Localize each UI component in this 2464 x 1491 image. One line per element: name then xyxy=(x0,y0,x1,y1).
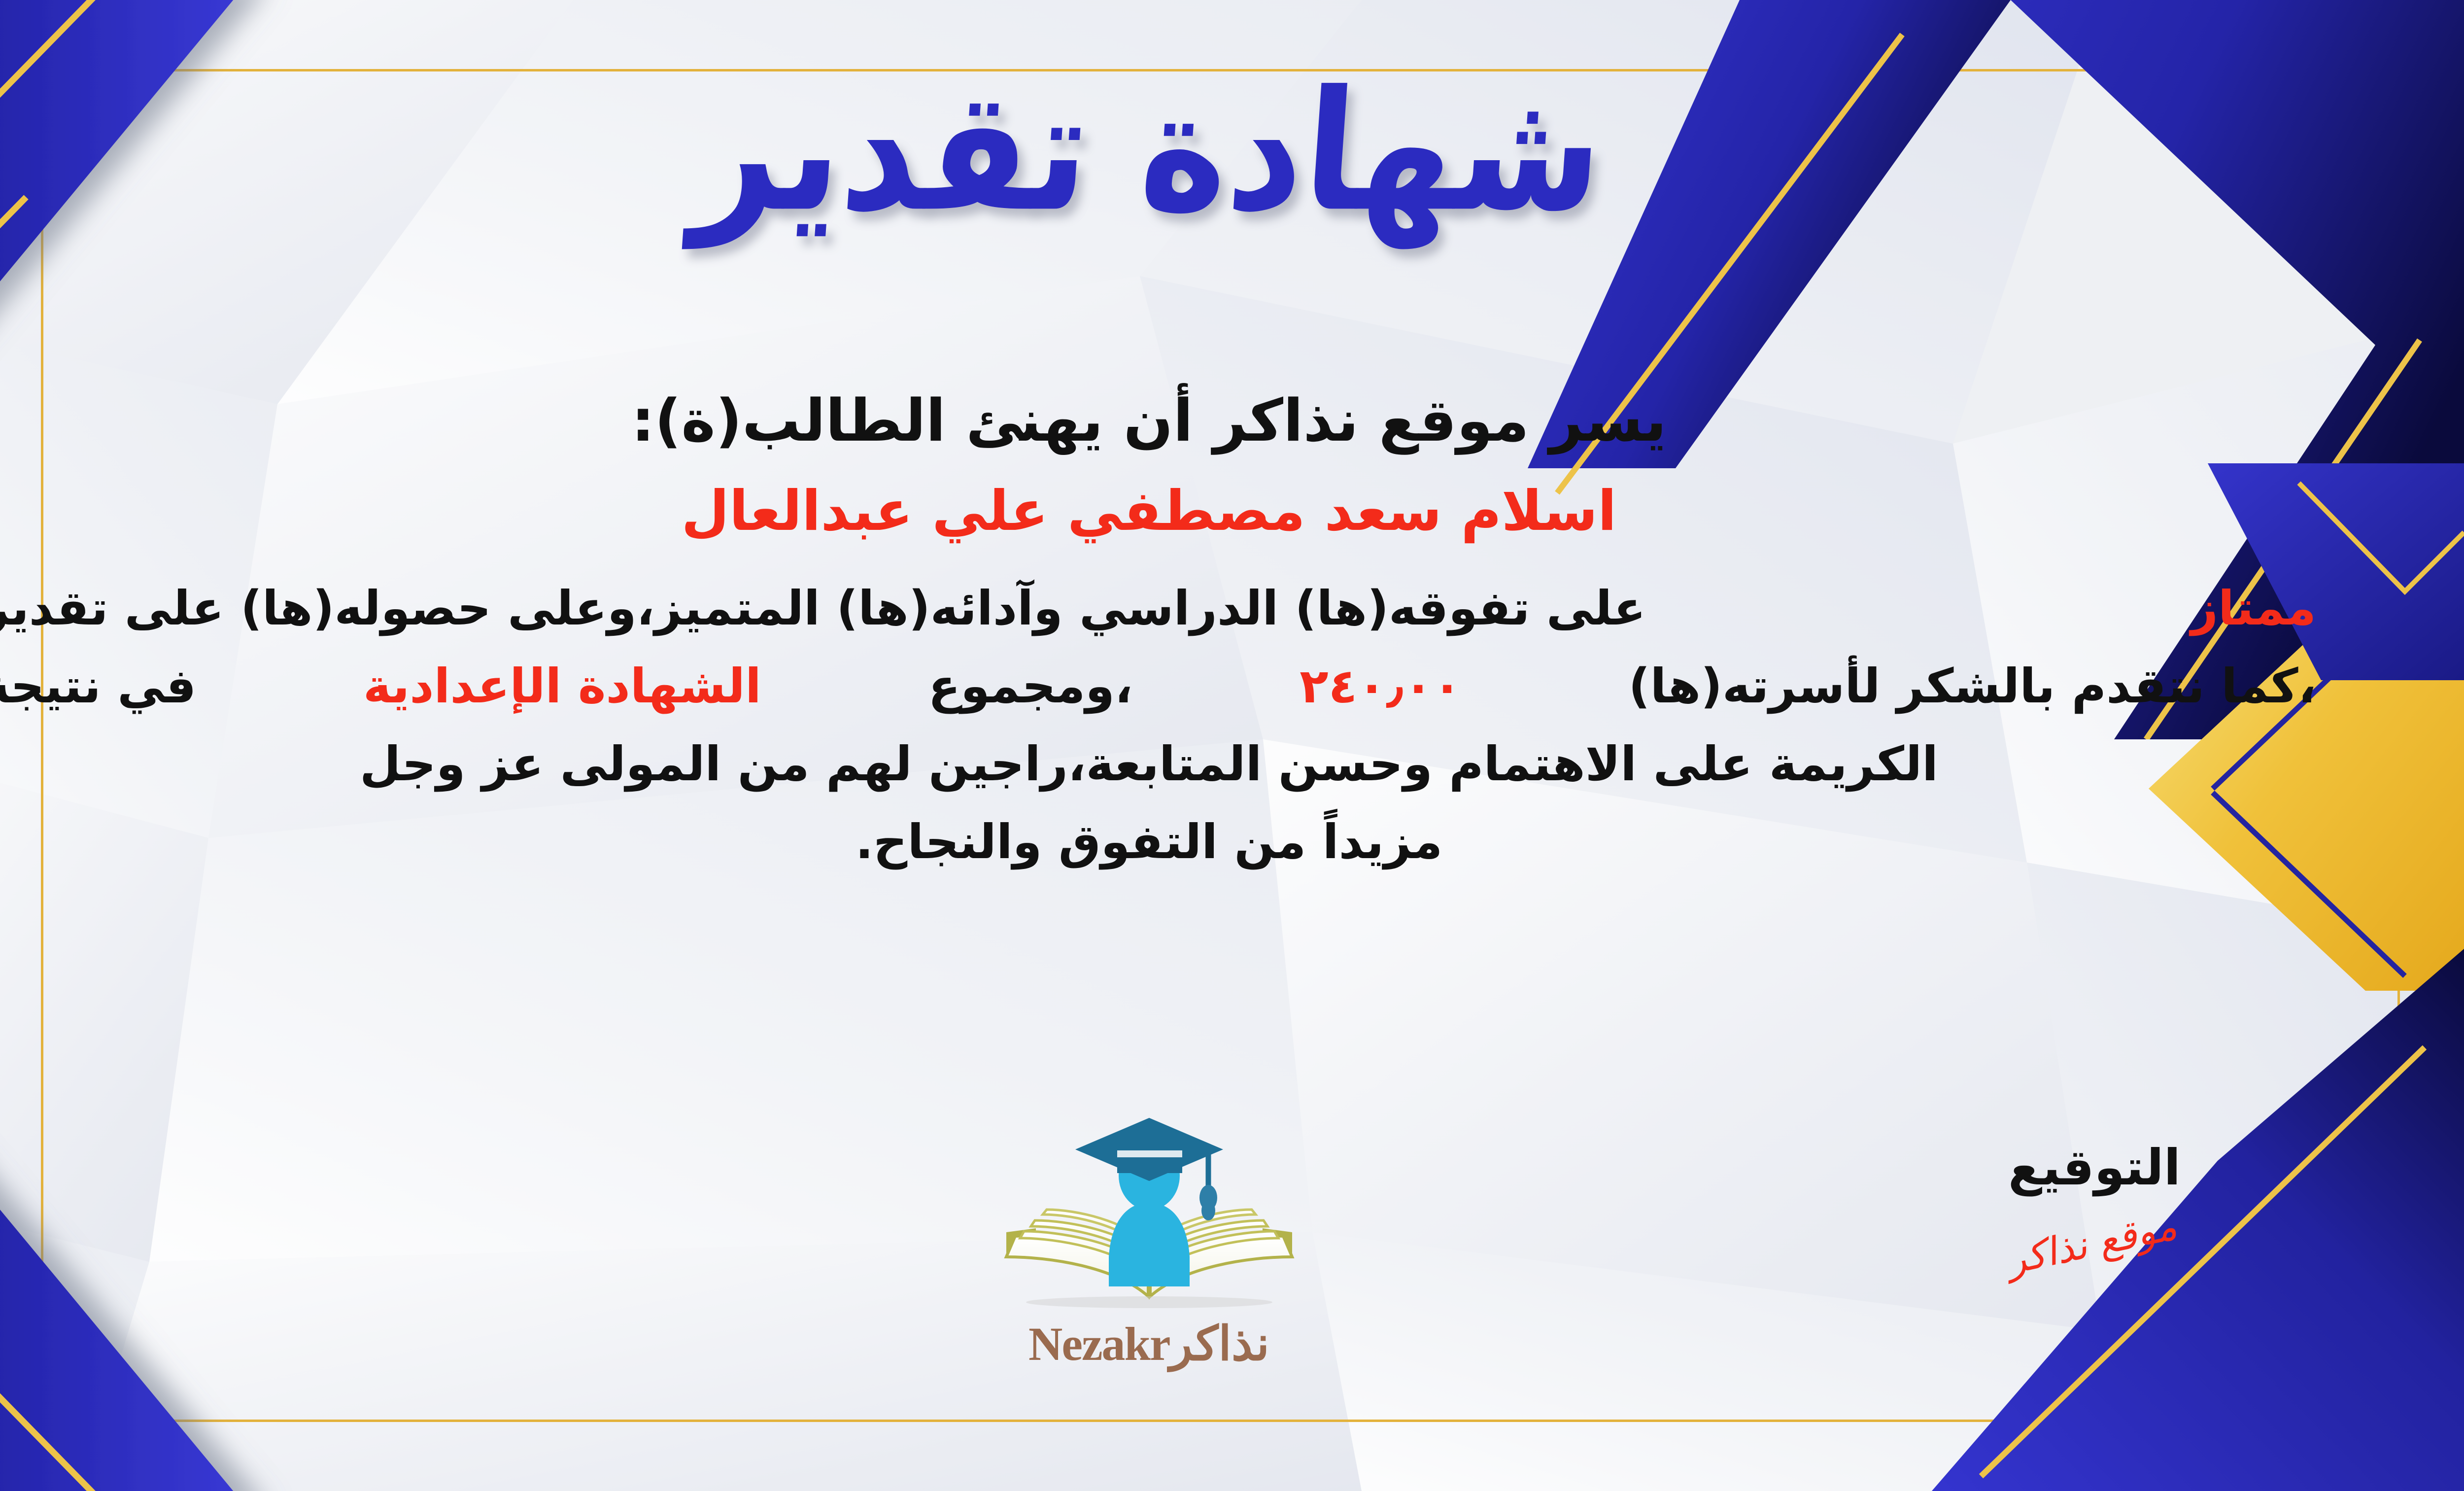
certificate-title: شهادة تقدير xyxy=(689,65,1609,239)
certificate-paragraph: ممتاز على تفوقه(ها) الدراسي وآدائه(ها) ا… xyxy=(0,573,2316,877)
paragraph-line-4: مزيداً من التفوق والنجاح. xyxy=(0,806,2316,877)
paragraph-line-2-head: في نتيجة xyxy=(0,651,196,722)
signature-mark: موقع نذاكر xyxy=(2010,1203,2179,1284)
paragraph-line-1-text: على تفوقه(ها) الدراسي وآدائه(ها) المتميز… xyxy=(0,573,1646,644)
signature-block: التوقيع موقع نذاكر xyxy=(1873,1139,2316,1265)
paragraph-line-1: ممتاز على تفوقه(ها) الدراسي وآدائه(ها) ا… xyxy=(0,573,2316,644)
certificate-body: يسر موقع نذاكر أن يهنئ الطالب(ة): اسلام … xyxy=(0,384,2316,877)
exam-name: الشهادة الإعدادية xyxy=(363,651,761,722)
grade-value: ممتاز xyxy=(2191,573,2316,644)
graduate-body xyxy=(1109,1203,1190,1286)
certificate-footer: التوقيع موقع نذاكر xyxy=(0,1109,2316,1405)
signature-label: التوقيع xyxy=(1873,1139,2316,1196)
logo-arabic-text: نذاكر xyxy=(1170,1318,1269,1370)
paragraph-line-2-tail: ،كما نتقدم بالشكر لأسرته(ها) xyxy=(1629,651,2316,722)
logo-shadow xyxy=(1026,1296,1272,1308)
paragraph-line-3: الكريمة على الاهتمام وحسن المتابعة،راجين… xyxy=(0,728,2316,799)
student-name: اسلام سعد مصطفي علي عبدالعال xyxy=(0,478,2316,544)
logo-wordmark: نذاكرNezakr xyxy=(962,1316,1336,1371)
paragraph-line-2: ،كما نتقدم بالشكر لأسرته(ها) ٢٤٠٫٠٠ ،ومج… xyxy=(0,651,2316,722)
total-score: ٢٤٠٫٠٠ xyxy=(1300,651,1462,722)
logo-latin-text: Nezakr xyxy=(1028,1318,1170,1370)
title-container: شهادة تقدير xyxy=(0,74,2464,229)
logo-graduate-book-icon xyxy=(977,1109,1322,1321)
certificate-page: شهادة تقدير يسر موقع نذاكر أن يهنئ الطال… xyxy=(0,0,2464,1491)
paragraph-line-2-mid: ،ومجموع xyxy=(928,651,1133,722)
nezakr-logo: نذاكرNezakr xyxy=(962,1109,1336,1371)
greeting-line: يسر موقع نذاكر أن يهنئ الطالب(ة): xyxy=(0,384,2316,457)
